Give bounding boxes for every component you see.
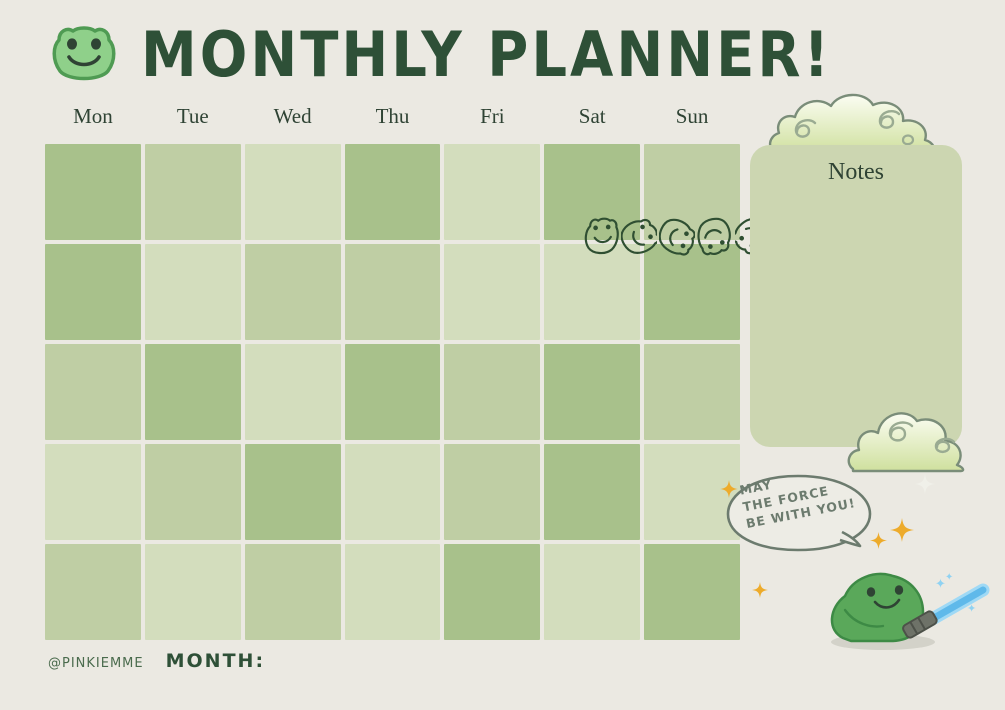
day-cell[interactable] — [345, 344, 441, 440]
weekday-header-thu: Thu — [345, 104, 441, 129]
day-cell[interactable] — [544, 344, 640, 440]
day-cell[interactable] — [245, 244, 341, 340]
day-cell[interactable] — [45, 144, 141, 240]
day-cell[interactable] — [544, 244, 640, 340]
day-cell[interactable] — [444, 244, 540, 340]
day-cell[interactable] — [145, 144, 241, 240]
sparkle-icon — [915, 474, 935, 494]
weekday-header-fri: Fri — [444, 104, 540, 129]
day-cell[interactable] — [345, 244, 441, 340]
day-cell[interactable] — [145, 344, 241, 440]
sparkle-icon — [870, 532, 887, 549]
sparkle-icon — [720, 480, 738, 498]
sparkle-icon — [890, 518, 914, 542]
day-cell[interactable] — [245, 544, 341, 640]
day-cell[interactable] — [145, 444, 241, 540]
day-cell[interactable] — [444, 544, 540, 640]
planner-page: MONTHLY PLANNER! MonTueWedThuFriSatSun N… — [0, 0, 1005, 710]
mascot-area: MAY THE FORCE BE WITH YOU! — [710, 470, 1005, 650]
frog-with-lightsaber-icon: ✦ ✦ ✦ — [815, 550, 1005, 650]
day-cell[interactable] — [345, 144, 441, 240]
author-handle: @PINKIEMME — [48, 656, 144, 671]
weekday-header-wed: Wed — [245, 104, 341, 129]
page-footer: @PINKIEMME MONTH: — [48, 650, 265, 672]
day-cell[interactable] — [45, 344, 141, 440]
day-cell[interactable] — [145, 544, 241, 640]
day-cell[interactable] — [544, 444, 640, 540]
day-cell[interactable] — [444, 144, 540, 240]
page-title: MONTHLY PLANNER! — [141, 19, 832, 92]
weekday-header-tue: Tue — [145, 104, 241, 129]
weekday-header-sat: Sat — [544, 104, 640, 129]
page-header: MONTHLY PLANNER! — [45, 14, 845, 96]
day-cell[interactable] — [644, 144, 740, 240]
svg-text:✦: ✦ — [945, 572, 953, 583]
day-cell[interactable] — [544, 144, 640, 240]
day-cell[interactable] — [644, 244, 740, 340]
day-cell[interactable] — [145, 244, 241, 340]
day-cell[interactable] — [345, 544, 441, 640]
day-cell[interactable] — [245, 344, 341, 440]
day-cell[interactable] — [444, 344, 540, 440]
day-cell[interactable] — [45, 444, 141, 540]
day-cell[interactable] — [544, 544, 640, 640]
month-label: MONTH: — [166, 650, 265, 672]
day-cell[interactable] — [245, 144, 341, 240]
day-cell[interactable] — [644, 344, 740, 440]
calendar-grid — [45, 144, 740, 640]
frog-face-icon — [45, 24, 123, 86]
day-cell[interactable] — [444, 444, 540, 540]
day-cell[interactable] — [245, 444, 341, 540]
day-cell[interactable] — [45, 544, 141, 640]
weekday-header-sun: Sun — [644, 104, 740, 129]
sparkle-icon — [752, 582, 768, 598]
notes-title: Notes — [750, 159, 962, 186]
weekday-header-row: MonTueWedThuFriSatSun — [45, 104, 740, 129]
weekday-header-mon: Mon — [45, 104, 141, 129]
day-cell[interactable] — [345, 444, 441, 540]
svg-text:✦: ✦ — [967, 602, 976, 615]
day-cell[interactable] — [45, 244, 141, 340]
